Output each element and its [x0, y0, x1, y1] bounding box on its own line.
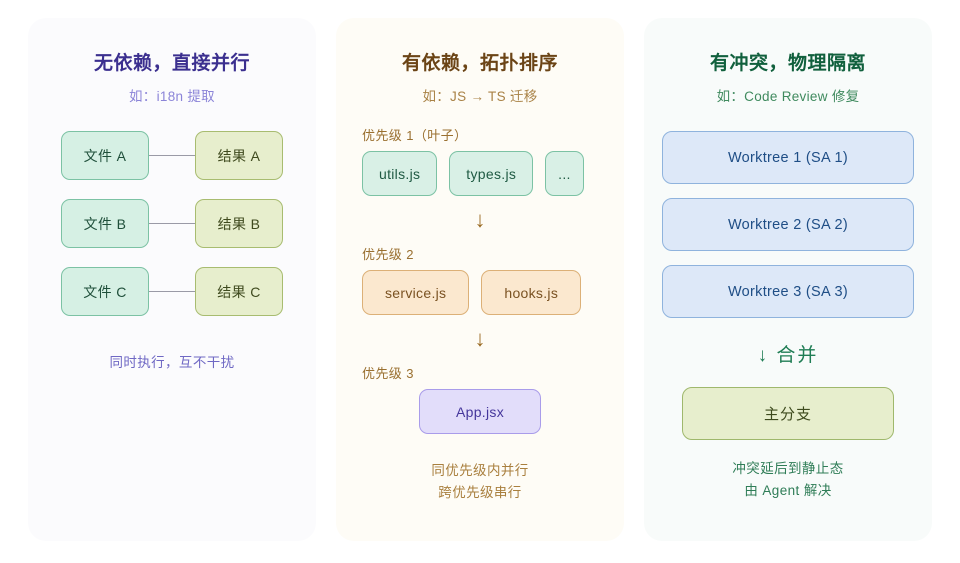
- panel-title: 无依赖，直接并行: [94, 48, 250, 75]
- priority-level: 优先级 2 service.js hooks.js: [354, 244, 606, 315]
- priority-level: 优先级 1（叶子） utils.js types.js ...: [354, 125, 606, 196]
- connector-line: [149, 155, 195, 157]
- merge-arrow-label: ↓ 合并: [758, 340, 819, 367]
- connector-line: [149, 291, 195, 293]
- pair-list: 文件 A 结果 A 文件 B 结果 B 文件 C 结果 C: [46, 131, 298, 316]
- result-node: 结果 A: [195, 131, 283, 180]
- panel-subtitle: 如：i18n 提取: [129, 85, 215, 105]
- worktree-box: Worktree 3 (SA 3): [662, 265, 914, 318]
- priority-level-nodes: utils.js types.js ...: [354, 151, 606, 196]
- module-chip: types.js: [449, 151, 533, 196]
- panel-subtitle: 如：JS → TS 迁移: [422, 85, 537, 105]
- pair-row: 文件 A 结果 A: [61, 131, 283, 180]
- panel-no-dependency: 无依赖，直接并行 如：i18n 提取 文件 A 结果 A 文件 B 结果 B 文…: [28, 18, 316, 541]
- priority-level-label: 优先级 3: [354, 363, 606, 382]
- down-arrow-icon: ↓: [354, 209, 606, 231]
- module-chip-overflow: ...: [545, 151, 584, 196]
- panel-subtitle: 如：Code Review 修复: [717, 85, 860, 105]
- panel-footnote: 同时执行，互不干扰: [109, 352, 234, 374]
- panel-footnote-line: 同优先级内并行: [431, 460, 528, 482]
- file-node: 文件 B: [61, 199, 149, 248]
- worktree-box: Worktree 2 (SA 2): [662, 198, 914, 251]
- module-chip: App.jsx: [419, 389, 541, 434]
- file-node: 文件 C: [61, 267, 149, 316]
- priority-level-label: 优先级 1（叶子）: [354, 125, 606, 144]
- diagram-board: 无依赖，直接并行 如：i18n 提取 文件 A 结果 A 文件 B 结果 B 文…: [0, 0, 960, 563]
- priority-level-label: 优先级 2: [354, 244, 606, 263]
- module-chip: utils.js: [362, 151, 437, 196]
- panel-title: 有依赖，拓扑排序: [402, 48, 558, 75]
- module-chip: service.js: [362, 270, 469, 315]
- main-branch-box: 主分支: [682, 387, 894, 440]
- panel-footnote: 冲突延后到静止态 由 Agent 解决: [732, 458, 843, 503]
- panel-has-dependency: 有依赖，拓扑排序 如：JS → TS 迁移 优先级 1（叶子） utils.js…: [336, 18, 624, 541]
- connector-line: [149, 223, 195, 225]
- pair-row: 文件 C 结果 C: [61, 267, 283, 316]
- pair-row: 文件 B 结果 B: [61, 199, 283, 248]
- panel-title: 有冲突，物理隔离: [710, 48, 866, 75]
- panel-footnote: 同优先级内并行 跨优先级串行: [431, 460, 528, 505]
- panel-has-conflict: 有冲突，物理隔离 如：Code Review 修复 Worktree 1 (SA…: [644, 18, 932, 541]
- module-chip: hooks.js: [481, 270, 581, 315]
- result-node: 结果 C: [195, 267, 283, 316]
- priority-level-nodes: App.jsx: [354, 389, 606, 434]
- worktree-box: Worktree 1 (SA 1): [662, 131, 914, 184]
- priority-level-nodes: service.js hooks.js: [354, 270, 606, 315]
- file-node: 文件 A: [61, 131, 149, 180]
- panel-footnote-line: 冲突延后到静止态: [732, 458, 843, 480]
- panel-footnote-line: 跨优先级串行: [431, 482, 528, 504]
- worktree-list: Worktree 1 (SA 1) Worktree 2 (SA 2) Work…: [662, 131, 914, 318]
- panel-footnote-line: 由 Agent 解决: [732, 480, 843, 502]
- down-arrow-icon: ↓: [354, 328, 606, 350]
- result-node: 结果 B: [195, 199, 283, 248]
- priority-level: 优先级 3 App.jsx: [354, 363, 606, 434]
- priority-level-list: 优先级 1（叶子） utils.js types.js ... ↓ 优先级 2 …: [354, 125, 606, 434]
